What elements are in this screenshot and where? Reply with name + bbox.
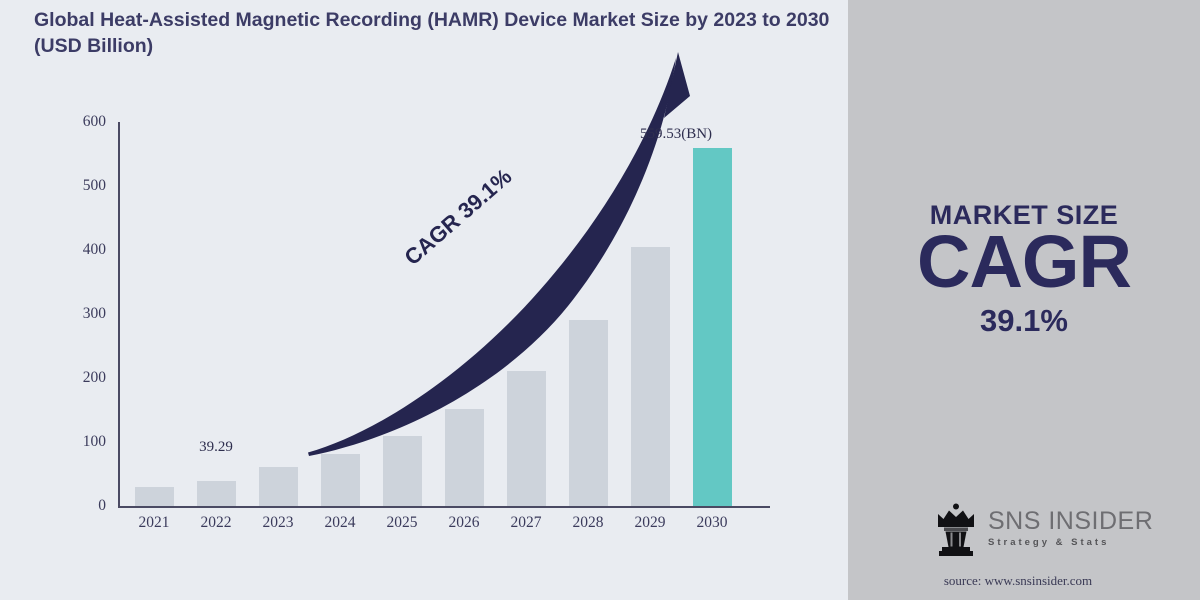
x-axis-tick: 2028 [557,514,619,532]
data-label-2022: 39.29 [156,439,276,456]
y-axis-tick: 300 [83,305,106,323]
x-axis-tick: 2022 [185,514,247,532]
cagr-heading: CAGR [848,223,1200,301]
y-axis-tick: 400 [83,241,106,259]
source-attribution: source: www.snsinsider.com [848,573,1188,589]
x-axis-tick: 2026 [433,514,495,532]
bar-2021[interactable] [135,487,174,506]
y-axis-tick: 100 [83,433,106,451]
x-axis-tick: 2027 [495,514,557,532]
chess-rook-crown-icon [930,503,982,557]
x-axis-tick: 2025 [371,514,433,532]
y-axis-tick: 600 [83,113,106,131]
y-axis-tick: 0 [98,497,106,515]
brand-logo: SNS INSIDER Strategy & Stats [930,503,1170,559]
y-axis-line [118,122,120,508]
brand-name: SNS INSIDER [988,509,1153,534]
x-axis-tick: 2029 [619,514,681,532]
infographic-canvas: MARKET SIZE CAGR 39.1% SNS INSIDER Strat… [0,0,1200,600]
x-axis-tick: 2023 [247,514,309,532]
brand-text: SNS INSIDER Strategy & Stats [988,509,1153,548]
bar-2027[interactable] [507,371,546,506]
y-axis-tick: 500 [83,177,106,195]
bar-2029[interactable] [631,247,670,506]
bar-2024[interactable] [321,454,360,506]
y-axis-tick: 200 [83,369,106,387]
brand-tagline: Strategy & Stats [988,537,1153,548]
cagr-value: 39.1% [848,303,1200,339]
bar-2026[interactable] [445,409,484,506]
bar-2025[interactable] [383,436,422,506]
x-axis-tick: 2024 [309,514,371,532]
bar-2022[interactable] [197,481,236,506]
plot-area: 600 500 400 300 200 100 0 2021 2022 2023… [118,122,768,506]
bar-2023[interactable] [259,467,298,506]
chart-title: Global Heat-Assisted Magnetic Recording … [34,8,834,59]
x-axis-line [118,506,770,508]
x-axis-tick: 2021 [123,514,185,532]
bar-2030[interactable] [693,148,732,506]
bar-2028[interactable] [569,320,608,506]
data-label-2030: 559.53(BN) [616,126,736,143]
x-axis-tick: 2030 [681,514,743,532]
